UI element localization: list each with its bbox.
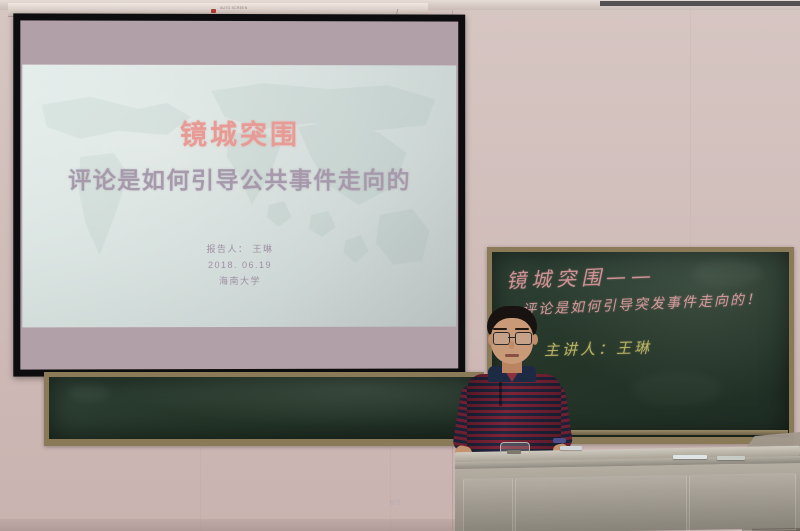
projection-screen[interactable]: 镜城突围 评论是如何引导公共事件走向的 报告人： 王琳 2018. 06.19 …	[13, 13, 465, 376]
chalk-line-title: 镜城突围——	[505, 259, 656, 294]
glasses-icon	[515, 332, 532, 345]
slide-meta-block: 报告人： 王琳 2018. 06.19 海南大学	[22, 241, 456, 289]
presentation-slide: 镜城突围 评论是如何引导公共事件走向的 报告人： 王琳 2018. 06.19 …	[22, 65, 456, 328]
podium-panel	[515, 475, 687, 531]
slide-title: 镜城突围	[22, 113, 456, 152]
podium-handle-base	[507, 450, 521, 454]
chalk-smudge	[692, 260, 762, 286]
blackboard-sheen	[49, 377, 479, 439]
blackboard-left-panel	[44, 372, 484, 446]
speaker-mouth	[505, 354, 519, 357]
speaker-nose	[509, 341, 514, 349]
ceiling-rail	[600, 1, 800, 6]
podium	[455, 443, 800, 531]
podium-item-eraser[interactable]	[717, 456, 745, 460]
podium-body	[455, 463, 800, 531]
speaker-eyebrow-right	[515, 328, 529, 330]
podium-panel	[463, 478, 513, 531]
wall-seam	[390, 436, 391, 531]
slide-meta-date: 2018. 06.19	[22, 257, 456, 273]
glasses-bridge	[508, 337, 515, 338]
slide-subtitle: 评论是如何引导公共事件走向的	[22, 161, 456, 195]
glasses-icon	[493, 332, 510, 345]
wall-seam	[200, 436, 201, 531]
classroom-photo: 6/7 AUTO SCREEN 镜城突围—— 评论是如何引导突发事件走向的！ 主…	[0, 0, 800, 531]
floor-shadow	[0, 519, 460, 531]
podium-item-marker[interactable]	[560, 446, 582, 450]
podium-panel	[689, 473, 796, 531]
housing-label: AUTO SCREEN	[220, 6, 247, 10]
podium-item-paper[interactable]	[673, 455, 707, 459]
power-indicator-icon	[211, 9, 216, 13]
slide-meta-affiliation: 海南大学	[22, 273, 456, 290]
speaker-eyebrow-left	[493, 328, 507, 330]
screen-surface: 镜城突围 评论是如何引导公共事件走向的 报告人： 王琳 2018. 06.19 …	[20, 20, 458, 369]
speaker-ear-right	[532, 334, 538, 345]
chalk-smudge	[632, 372, 722, 406]
slide-meta-presenter: 报告人： 王琳	[22, 241, 456, 257]
wall-mark-label: 6/7	[390, 500, 401, 507]
chalk-smudge	[69, 385, 109, 401]
